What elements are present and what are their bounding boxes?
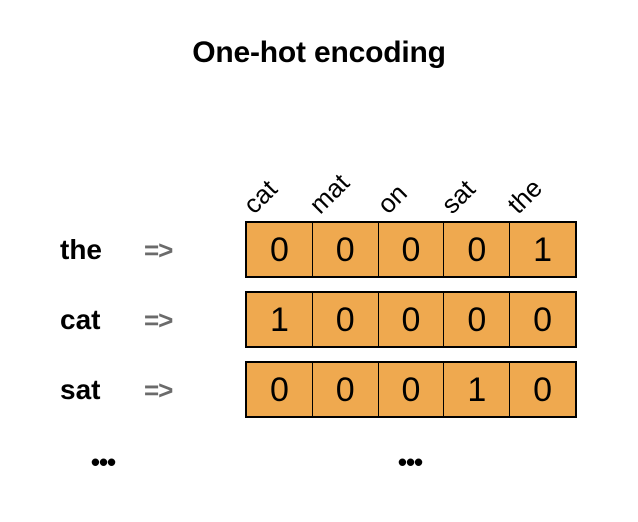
arrow-icon: => bbox=[144, 307, 172, 333]
row-label-the: the => bbox=[60, 221, 240, 278]
matrix-cell: 0 bbox=[444, 223, 510, 276]
matrix-cell: 1 bbox=[247, 293, 313, 346]
matrix-cell: 0 bbox=[313, 293, 379, 346]
column-header-group: cat mat on sat the bbox=[245, 118, 577, 218]
matrix-cell: 0 bbox=[444, 293, 510, 346]
matrix-cell: 1 bbox=[510, 223, 575, 276]
matrix-row: 0 0 0 0 1 bbox=[245, 221, 577, 278]
matrix-cell: 1 bbox=[444, 363, 510, 416]
column-header-mat: mat bbox=[305, 169, 354, 218]
matrix-row: 1 0 0 0 0 bbox=[245, 291, 577, 348]
column-header-the: the bbox=[503, 174, 547, 218]
ellipsis-row-labels: ••• bbox=[91, 449, 115, 475]
row-word-cat: cat bbox=[60, 306, 144, 334]
matrix-cell: 0 bbox=[379, 293, 445, 346]
matrix-cell: 0 bbox=[247, 363, 313, 416]
matrix-row: 0 0 0 1 0 bbox=[245, 361, 577, 418]
page-title: One-hot encoding bbox=[0, 36, 638, 70]
column-header-cat: cat bbox=[239, 175, 282, 218]
matrix-cell: 0 bbox=[313, 223, 379, 276]
matrix-cell: 0 bbox=[510, 293, 575, 346]
matrix-cell: 0 bbox=[313, 363, 379, 416]
arrow-icon: => bbox=[144, 377, 172, 403]
row-label-sat: sat => bbox=[60, 361, 240, 418]
column-header-sat: sat bbox=[437, 175, 480, 218]
matrix-cell: 0 bbox=[247, 223, 313, 276]
row-label-cat: cat => bbox=[60, 291, 240, 348]
one-hot-encoding-diagram: One-hot encoding cat mat on sat the the … bbox=[0, 0, 638, 522]
row-word-sat: sat bbox=[60, 376, 144, 404]
ellipsis-matrix: ••• bbox=[398, 449, 422, 475]
arrow-icon: => bbox=[144, 237, 172, 263]
matrix-cell: 0 bbox=[379, 363, 445, 416]
matrix-cell: 0 bbox=[379, 223, 445, 276]
row-label-group: the => cat => sat => bbox=[60, 221, 240, 418]
column-header-on: on bbox=[373, 179, 412, 218]
row-word-the: the bbox=[60, 236, 144, 264]
matrix-cell: 0 bbox=[510, 363, 575, 416]
encoding-matrix: 0 0 0 0 1 1 0 0 0 0 0 0 0 1 0 bbox=[245, 221, 577, 418]
